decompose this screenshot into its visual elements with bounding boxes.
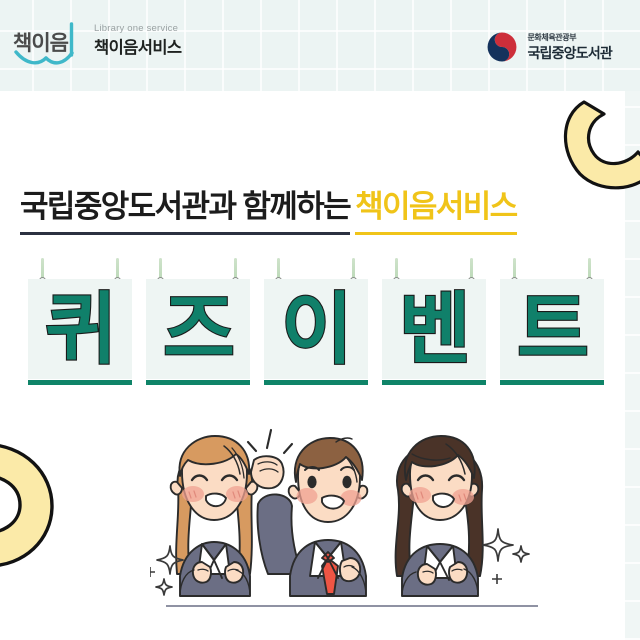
title-card-face: 퀴 — [28, 279, 132, 379]
headline-highlight: 책이음서비스 — [355, 188, 517, 235]
taegeuk-icon — [485, 30, 519, 64]
brand-text-block: Library one service 책이음서비스 — [94, 23, 181, 59]
title-card-face: 트 — [500, 279, 604, 379]
title-card: 이 — [264, 258, 368, 386]
crescent-top-right-icon — [554, 100, 640, 190]
open-book-icon: 책이음 — [12, 22, 84, 70]
header-bar: 책이음 Library one service 책이음서비스 문화체육관광부 국… — [0, 0, 640, 91]
title-card-letter: 트 — [500, 289, 604, 369]
woman-left-character — [171, 436, 258, 596]
title-card-letter: 퀴 — [28, 289, 132, 369]
brand-logo[interactable]: 책이음 Library one service 책이음서비스 — [12, 20, 262, 76]
woman-right-character — [396, 436, 483, 596]
title-card-face: 벤 — [382, 279, 486, 379]
title-card-bar — [28, 380, 132, 385]
ground-line — [166, 605, 538, 607]
title-card-letter: 즈 — [146, 289, 250, 369]
brand-tagline-en: Library one service — [94, 23, 181, 35]
title-card-row: 퀴 즈 이 — [28, 258, 612, 386]
title-card: 퀴 — [28, 258, 132, 386]
three-cheering-people-illustration — [150, 424, 550, 624]
government-text-block: 문화체육관광부 국립중앙도서관 — [527, 32, 612, 62]
headline: 국립중앙도서관과 함께하는책이음서비스 — [20, 188, 620, 235]
title-card: 트 — [500, 258, 604, 386]
title-card-letter: 이 — [264, 289, 368, 369]
title-card-bar — [500, 380, 604, 385]
title-card-bar — [146, 380, 250, 385]
brand-tagline-ko: 책이음서비스 — [94, 37, 181, 59]
title-card: 벤 — [382, 258, 486, 386]
title-card: 즈 — [146, 258, 250, 386]
poster-canvas: 책이음 Library one service 책이음서비스 문화체육관광부 국… — [0, 0, 640, 640]
title-card-bar — [382, 380, 486, 385]
title-card-letter: 벤 — [382, 289, 486, 369]
title-card-face: 이 — [264, 279, 368, 379]
right-edge-strip — [625, 0, 640, 640]
crescent-left-icon — [0, 440, 68, 570]
ministry-name: 문화체육관광부 — [527, 32, 612, 43]
organization-name: 국립중앙도서관 — [527, 44, 612, 62]
headline-prefix: 국립중앙도서관과 함께하는 — [20, 188, 350, 235]
title-card-face: 즈 — [146, 279, 250, 379]
title-card-bar — [264, 380, 368, 385]
government-logo[interactable]: 문화체육관광부 국립중앙도서관 — [485, 26, 612, 68]
man-center-character — [248, 430, 367, 596]
